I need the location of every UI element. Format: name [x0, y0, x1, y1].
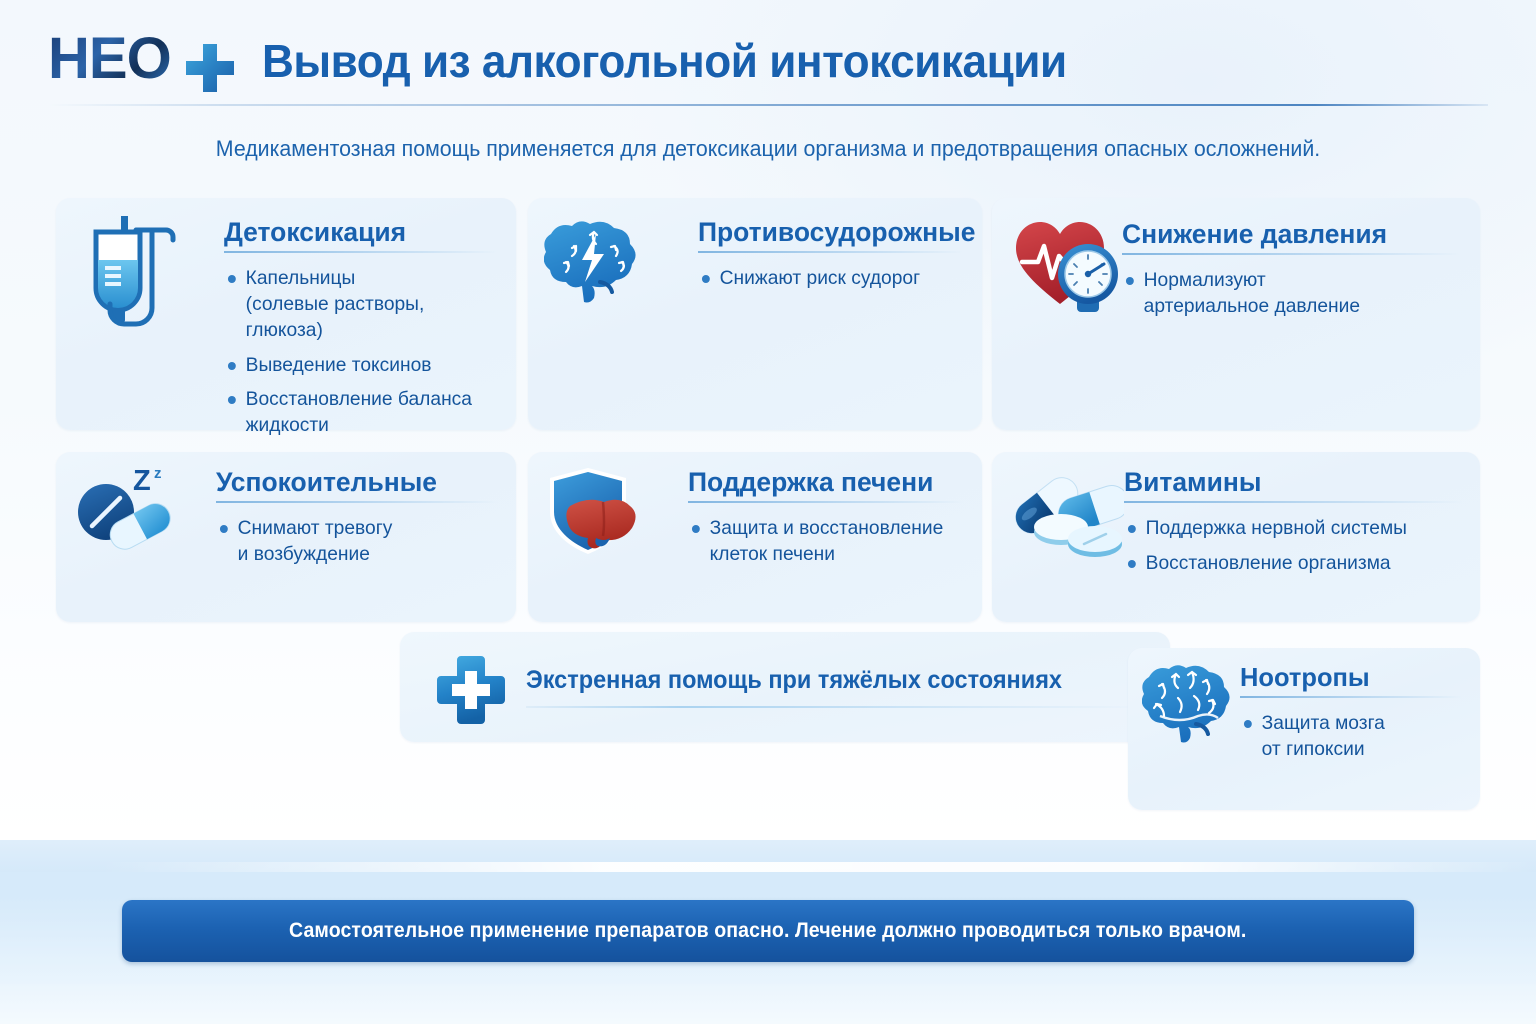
emergency-divider	[526, 706, 1144, 708]
list-item: Восстановление баланса жидкости	[224, 387, 494, 438]
warning-text: Самостоятельное применение препаратов оп…	[289, 919, 1246, 943]
list-item: Защита мозга от гипоксии	[1240, 711, 1459, 762]
emergency-label: Экстренная помощь при тяжёлых состояниях	[526, 666, 1107, 695]
svg-text:z: z	[154, 465, 162, 482]
card-anticonvulsants[interactable]: Противосудорожные Снижают риск судорог	[528, 198, 982, 430]
list-item: Выведение токсинов	[224, 353, 494, 379]
list-item: Восстановление организма	[1124, 551, 1457, 577]
card-sedatives[interactable]: Z z Успокоительные Снимают тревогу и воз…	[56, 452, 516, 622]
title-divider	[1240, 696, 1462, 698]
bullet-text: Защита и восстановление	[710, 517, 944, 539]
bullet-text: Поддержка нервной системы	[1146, 517, 1407, 539]
bullet-text: Нормализуют	[1144, 269, 1266, 291]
card-title: Витамины	[1124, 468, 1455, 496]
list-item: Капельницы (солевые растворы, глюкоза)	[224, 266, 494, 343]
title-divider	[216, 501, 498, 503]
bullet-subtext: от гипоксии	[1262, 737, 1459, 763]
title-divider	[1122, 253, 1462, 255]
card-title: Поддержка печени	[688, 468, 958, 496]
card-liver-support[interactable]: Поддержка печени Защита и восстановление…	[528, 452, 982, 622]
bullet-list: Снижают риск судорог	[698, 266, 964, 292]
card-title: Успокоительные	[216, 468, 492, 496]
card-emergency-help[interactable]: Экстренная помощь при тяжёлых состояниях	[400, 632, 1170, 742]
card-title: Противосудорожные	[698, 218, 959, 246]
bullet-text: Восстановление баланса жидкости	[246, 388, 472, 436]
iv-drip-icon	[74, 214, 182, 347]
list-item: Нормализуют артериальное давление	[1122, 268, 1457, 319]
bullet-text: Выведение токсинов	[246, 354, 432, 376]
subtitle: Медикаментозная помощь применяется для д…	[23, 136, 1513, 162]
title-divider	[1124, 501, 1462, 503]
bullet-list: Капельницы (солевые растворы, глюкоза) В…	[224, 266, 498, 438]
card-title: Детоксикация	[224, 218, 493, 246]
bullet-text: Защита мозга	[1262, 712, 1385, 734]
brain-lightning-icon	[544, 216, 642, 309]
list-item: Снижают риск судорог	[698, 266, 960, 292]
card-title: Снижение давления	[1122, 220, 1455, 248]
heart-pressure-gauge-icon	[1014, 218, 1124, 323]
bullet-subtext: и возбуждение	[238, 542, 494, 568]
medical-cross-icon	[435, 654, 507, 731]
infographic-canvas: HEO Вывод из алкогольной интоксикации Ме…	[0, 0, 1536, 1024]
bullet-list: Поддержка нервной системы Восстановление…	[1124, 516, 1462, 576]
bullet-list: Защита мозга от гипоксии	[1240, 711, 1462, 762]
bullet-text: Капельницы	[246, 267, 356, 289]
bullet-list: Нормализуют артериальное давление	[1122, 268, 1462, 319]
card-vitamins[interactable]: Витамины Поддержка нервной системы Восст…	[992, 452, 1480, 622]
sleeping-pill-icon: Z z	[70, 460, 182, 561]
list-item: Защита и восстановление клеток печени	[688, 516, 960, 567]
warning-banner: Самостоятельное применение препаратов оп…	[122, 900, 1414, 962]
card-blood-pressure[interactable]: Снижение давления Нормализуют артериальн…	[992, 198, 1480, 430]
bullet-subtext: (солевые растворы, глюкоза)	[246, 292, 494, 343]
brain-icon	[1142, 660, 1238, 751]
list-item: Снимают тревогу и возбуждение	[216, 516, 494, 567]
list-item: Поддержка нервной системы	[1124, 516, 1457, 542]
bullet-text: Снимают тревогу	[238, 517, 393, 539]
svg-text:Z: Z	[133, 465, 151, 497]
title-divider	[698, 251, 964, 253]
card-detox[interactable]: Детоксикация Капельницы (солевые раствор…	[56, 198, 516, 430]
header-divider	[48, 104, 1488, 106]
bullet-text: Снижают риск судорог	[720, 267, 920, 289]
plus-icon	[182, 40, 238, 96]
bullet-subtext: артериальное давление	[1144, 294, 1457, 320]
bullet-list: Защита и восстановление клеток печени	[688, 516, 964, 567]
title-divider	[688, 501, 964, 503]
bullet-text: Восстановление организма	[1146, 552, 1391, 574]
page-title: Вывод из алкогольной интоксикации	[262, 34, 1067, 88]
card-nootropics[interactable]: Ноотропы Защита мозга от гипоксии	[1128, 648, 1480, 810]
bullet-list: Снимают тревогу и возбуждение	[216, 516, 498, 567]
card-title: Ноотропы	[1240, 664, 1458, 691]
bullet-subtext: клеток печени	[710, 542, 960, 568]
pills-icon	[1000, 462, 1124, 567]
brand-logo-text: HEO	[48, 30, 171, 88]
header: HEO Вывод из алкогольной интоксикации	[0, 0, 1536, 112]
shield-liver-icon	[540, 462, 652, 567]
title-divider	[224, 251, 498, 253]
